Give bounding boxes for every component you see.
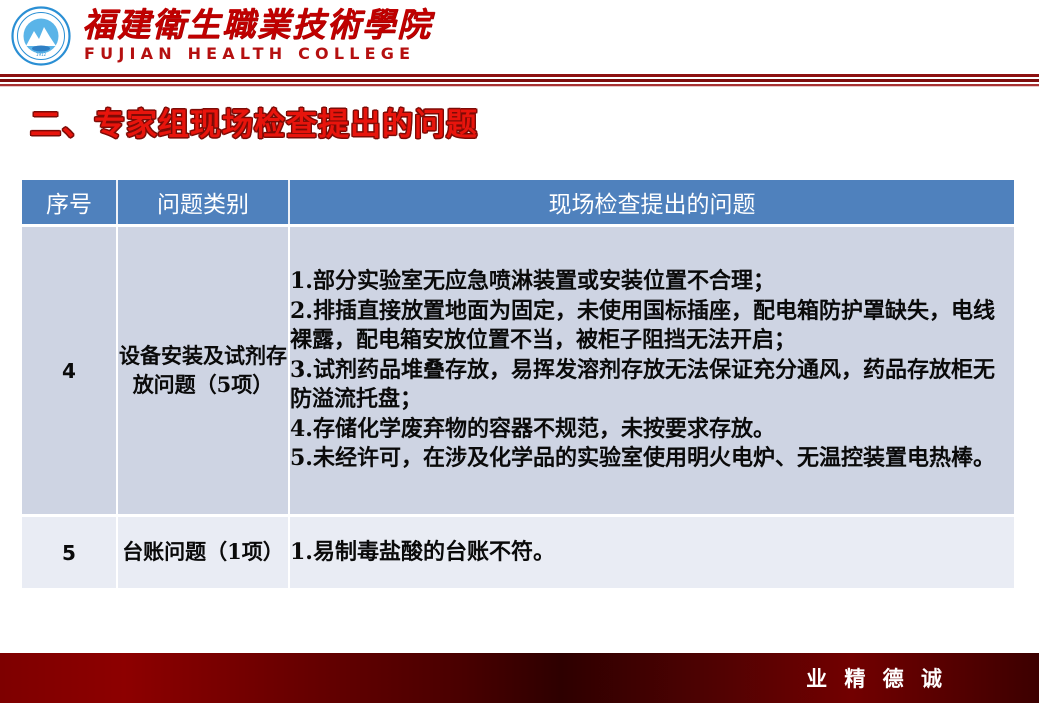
table-row: 5 台账问题（1项） 1.易制毒盐酸的台账不符。 — [22, 514, 1014, 588]
row-number: 4 — [22, 224, 118, 514]
row-category: 设备安装及试剂存放问题（5项） — [118, 224, 290, 514]
row-description: 1.易制毒盐酸的台账不符。 — [290, 514, 1014, 588]
institution-name-cn: 福建衛生職業技術學院 — [82, 5, 432, 45]
header-divider — [0, 74, 1039, 88]
row-number: 5 — [22, 514, 118, 588]
row-category: 台账问题（1项） — [118, 514, 290, 588]
slide-header: 1912 福建衛生職業技術學院 FUJIAN HEALTH COLLEGE — [0, 0, 1039, 72]
college-emblem-icon: 1912 — [10, 6, 72, 66]
footer-motto: 业 精 德 诚 — [806, 663, 947, 693]
column-header-desc: 现场检查提出的问题 — [290, 180, 1014, 224]
svg-text:1912: 1912 — [36, 52, 47, 57]
institution-name-en: FUJIAN HEALTH COLLEGE — [84, 44, 415, 63]
column-header-no: 序号 — [22, 180, 118, 224]
divider-line-6 — [0, 86, 1039, 87]
row-description: 1.部分实验室无应急喷淋装置或安装位置不合理； 2.排插直接放置地面为固定，未使… — [290, 224, 1014, 514]
slide-footer: 业 精 德 诚 — [0, 653, 1039, 703]
table-row: 4 设备安装及试剂存放问题（5项） 1.部分实验室无应急喷淋装置或安装位置不合理… — [22, 224, 1014, 514]
table-header-row: 序号 问题类别 现场检查提出的问题 — [22, 180, 1014, 224]
section-title: 二、专家组现场检查提出的问题 — [30, 99, 478, 144]
column-header-category: 问题类别 — [118, 180, 290, 224]
inspection-issues-table: 序号 问题类别 现场检查提出的问题 4 设备安装及试剂存放问题（5项） 1.部分… — [22, 180, 1014, 588]
